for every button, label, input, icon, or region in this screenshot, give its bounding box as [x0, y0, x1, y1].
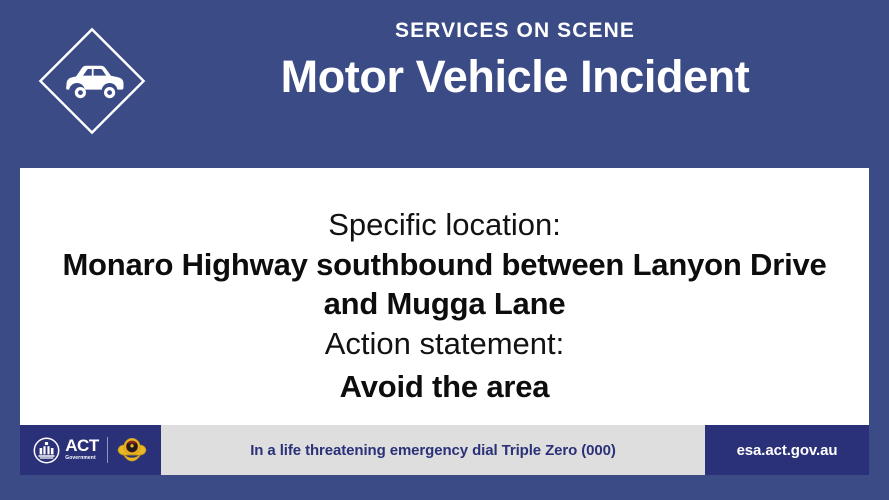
poster-header: SERVICES ON SCENE Motor Vehicle Incident — [0, 0, 889, 168]
incident-poster: SERVICES ON SCENE Motor Vehicle Incident… — [0, 0, 889, 500]
footer-logo-group: ACT Government — [20, 425, 161, 475]
specific-location-label: Specific location: — [20, 204, 869, 245]
act-coat-of-arms-icon — [33, 437, 60, 464]
act-wordmark: ACT Government — [65, 438, 98, 462]
poster-footer: ACT Government In a life threatening em — [20, 425, 869, 475]
emergency-message-text: In a life threatening emergency dial Tri… — [250, 442, 616, 459]
act-logo-subtitle: Government — [65, 455, 95, 462]
act-logo-word: ACT — [65, 438, 98, 454]
incident-details-content: Specific location: Monaro Highway southb… — [20, 168, 869, 406]
action-statement-label: Action statement: — [20, 323, 869, 364]
page-title: Motor Vehicle Incident — [160, 50, 870, 104]
eyebrow-label: SERVICES ON SCENE — [160, 18, 870, 44]
header-text-block: SERVICES ON SCENE Motor Vehicle Incident — [160, 18, 870, 104]
specific-location-value: Monaro Highway southbound between Lanyon… — [20, 245, 869, 323]
incident-details-card: Specific location: Monaro Highway southb… — [20, 168, 869, 425]
logo-divider — [107, 437, 108, 463]
motor-vehicle-diamond-icon — [33, 22, 151, 140]
action-statement-value: Avoid the area — [20, 367, 869, 406]
website-panel[interactable]: esa.act.gov.au — [705, 425, 869, 475]
emergency-message-panel: In a life threatening emergency dial Tri… — [161, 425, 705, 475]
act-government-logo: ACT Government — [33, 437, 98, 464]
website-url[interactable]: esa.act.gov.au — [737, 442, 838, 459]
esa-emergency-services-emblem-icon — [116, 435, 148, 465]
